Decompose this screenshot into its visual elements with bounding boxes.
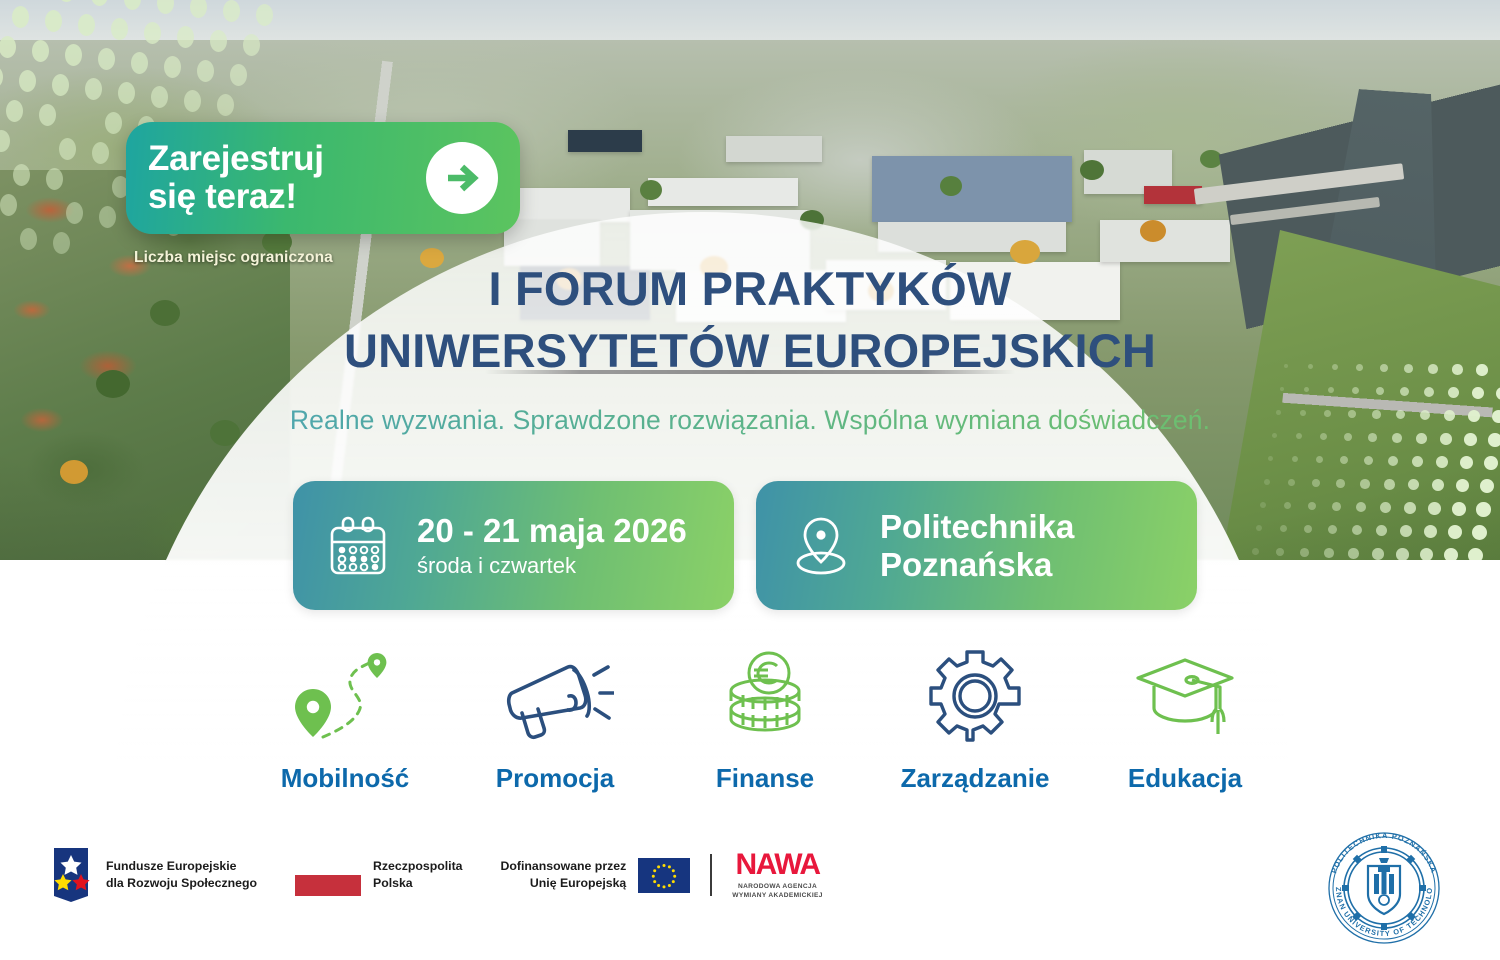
graduation-cap-icon [1130, 645, 1240, 745]
date-card-text: 20 - 21 maja 2026 środa i czwartek [417, 512, 687, 579]
nawa-subtitle: NARODOWA AGENCJA WYMIANY AKADEMICKIEJ [732, 883, 823, 901]
topic-label: Finanse [716, 763, 814, 794]
poland-label: Rzeczpospolita Polska [373, 858, 463, 891]
page-title: I FORUM PRAKTYKÓW UNIWERSYTETÓW EUROPEJS… [0, 258, 1500, 382]
topic-label: Mobilność [281, 763, 410, 794]
poland-logo: Rzeczpospolita Polska [295, 854, 463, 896]
poznan-university-seal-icon: POLITECHNIKA POZNAŃSKA POZNAN UNIVERSITY… [1318, 822, 1450, 954]
nawa-wordmark: NAWA [736, 850, 820, 880]
poster-canvas: Zarejestruj się teraz! Liczba miejsc ogr… [0, 0, 1500, 960]
register-button-label: Zarejestruj się teraz! [148, 140, 426, 216]
topic-mobilnosc[interactable]: Mobilność [250, 645, 440, 794]
map-pin-icon [790, 513, 852, 579]
route-pin-icon [285, 645, 405, 745]
topic-zarzadzanie[interactable]: Zarządzanie [880, 645, 1070, 794]
location-card-text: Politechnika Poznańska [880, 508, 1074, 583]
register-button[interactable]: Zarejestruj się teraz! [126, 122, 520, 234]
nawa-logo: NAWA NARODOWA AGENCJA WYMIANY AKADEMICKI… [732, 850, 823, 901]
eu-funds-flag-icon [48, 846, 94, 904]
topics-row: Mobilność Promocja [250, 645, 1280, 794]
eu-cofinance-logo: Dofinansowane przez Unię Europejską [501, 858, 691, 893]
topic-label: Edukacja [1128, 763, 1242, 794]
topic-finanse[interactable]: Finanse [670, 645, 860, 794]
page-subtitle: Realne wyzwania. Sprawdzone rozwiązania.… [0, 405, 1500, 436]
euro-coins-icon [713, 645, 817, 745]
location-card[interactable]: Politechnika Poznańska [756, 481, 1197, 610]
topic-label: Promocja [496, 763, 615, 794]
megaphone-icon [496, 645, 614, 745]
eu-funds-logo: Fundusze Europejskie dla Rozwoju Społecz… [48, 846, 257, 904]
eu-flag-icon [638, 858, 690, 893]
date-card-main: 20 - 21 maja 2026 [417, 512, 687, 550]
info-cards: 20 - 21 maja 2026 środa i czwartek Polit… [293, 481, 1197, 610]
calendar-icon [327, 515, 389, 577]
eu-cofinance-label: Dofinansowane przez Unię Europejską [501, 858, 627, 891]
topic-edukacja[interactable]: Edukacja [1090, 645, 1280, 794]
poland-flag-icon [295, 854, 361, 896]
date-card[interactable]: 20 - 21 maja 2026 środa i czwartek [293, 481, 734, 610]
topic-label: Zarządzanie [901, 763, 1050, 794]
arrow-right-icon [426, 142, 498, 214]
footer-logos: Fundusze Europejskie dla Rozwoju Społecz… [48, 846, 823, 904]
gear-icon [926, 645, 1024, 745]
decorative-dots-right [1250, 360, 1500, 590]
location-card-main: Politechnika Poznańska [880, 508, 1074, 583]
eu-funds-label: Fundusze Europejskie dla Rozwoju Społecz… [106, 858, 257, 891]
date-card-sub: środa i czwartek [417, 553, 687, 579]
topic-promocja[interactable]: Promocja [460, 645, 650, 794]
footer-separator [710, 854, 712, 896]
title-divider [485, 370, 1015, 374]
